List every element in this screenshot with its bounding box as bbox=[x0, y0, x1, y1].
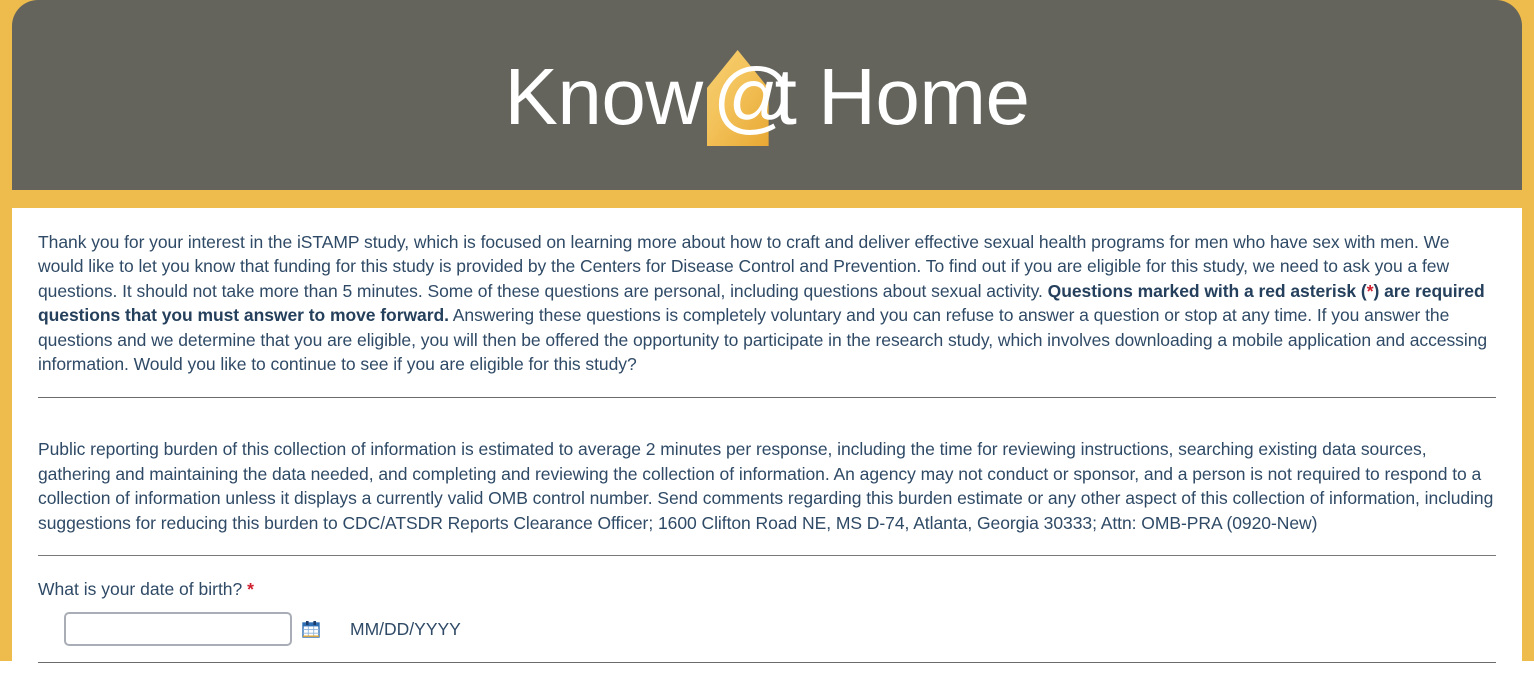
logo-text-know: Know bbox=[505, 42, 703, 152]
page-frame: Know @t Home Thank you for your interest… bbox=[0, 0, 1534, 661]
dob-label-text: What is your date of birth? bbox=[38, 579, 242, 599]
dob-date-input[interactable] bbox=[64, 612, 292, 646]
dob-field-row: MM/DD/YYYY bbox=[38, 600, 1496, 646]
divider-after-dob bbox=[38, 662, 1496, 663]
site-logo: Know @t Home bbox=[505, 42, 1030, 152]
calendar-icon[interactable] bbox=[298, 616, 324, 642]
divider-after-intro bbox=[38, 397, 1496, 398]
site-header: Know @t Home bbox=[12, 0, 1522, 190]
intro-paragraph: Thank you for your interest in the iSTAM… bbox=[38, 208, 1496, 377]
required-asterisk-icon: * bbox=[247, 579, 254, 599]
logo-text-t-home: t Home bbox=[775, 42, 1030, 152]
page-content: Thank you for your interest in the iSTAM… bbox=[12, 208, 1522, 679]
at-symbol-icon: @ bbox=[713, 42, 794, 152]
intro-bold-lead: Questions marked with a red asterisk ( bbox=[1048, 281, 1367, 301]
logo-house-slot: @ bbox=[703, 42, 775, 152]
dob-question-label: What is your date of birth? * bbox=[38, 556, 1496, 600]
dob-format-hint: MM/DD/YYYY bbox=[350, 619, 461, 640]
calendar-icon-svg bbox=[301, 619, 321, 639]
burden-statement-paragraph: Public reporting burden of this collecti… bbox=[38, 415, 1496, 535]
